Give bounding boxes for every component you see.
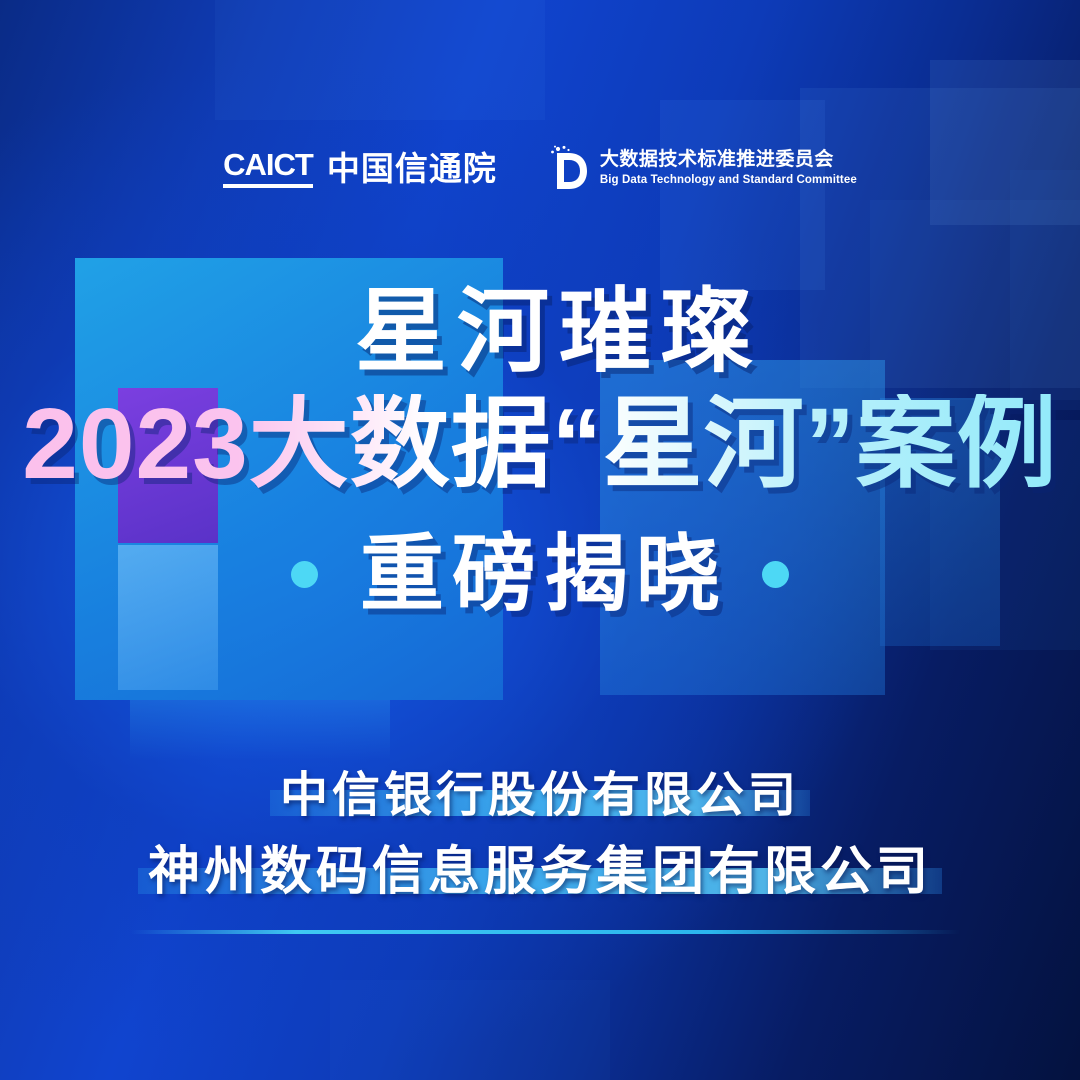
caict-logo: CAICT 中国信通院 [223,149,497,188]
cyan-dot-icon-right [762,561,789,588]
company-name-text: 神州数码信息服务集团有限公司 [148,843,932,901]
committee-text-block: 大数据技术标准推进委员会 Big Data Technology and Sta… [600,149,857,187]
company-name-text: 中信银行股份有限公司 [280,769,800,822]
divider-cyan-line [130,930,960,934]
caict-chinese-name: 中国信通院 [327,152,497,185]
logo-row: CAICT 中国信通院 大数据技术标准推进委员会 Big Data Techno… [0,138,1080,198]
company-list: 中信银行股份有限公司 神州数码信息服务集团有限公司 [0,772,1080,924]
caict-underline-bar [223,184,313,188]
cyan-dot-icon-left [291,561,318,588]
headline-line-3: 重磅揭晓 [352,532,728,616]
committee-english-name: Big Data Technology and Standard Committ… [600,174,857,187]
bg-fade-bottom-left [130,700,390,760]
committee-logo: 大数据技术标准推进委员会 Big Data Technology and Sta… [549,145,857,191]
headline-block: 星河璀璨 2023大数据“星河”案例 重磅揭晓 [0,286,1080,616]
caict-acronym: CAICT [223,149,313,180]
company-name-item: 中信银行股份有限公司 [280,772,800,820]
bg-strip-top [215,0,545,120]
headline-line-3-row: 重磅揭晓 [0,532,1080,616]
headline-line-1: 星河璀璨 [28,286,1080,378]
letter-d-logo-icon [549,145,589,191]
poster-canvas: CAICT 中国信通院 大数据技术标准推进委员会 Big Data Techno… [0,0,1080,1080]
committee-chinese-name: 大数据技术标准推进委员会 [600,149,857,171]
bg-strip-bottom [330,980,610,1080]
company-name-item: 神州数码信息服务集团有限公司 [148,846,932,898]
headline-line-2: 2023大数据“星河”案例 [0,394,1080,494]
caict-logo-icon: CAICT [223,149,313,188]
